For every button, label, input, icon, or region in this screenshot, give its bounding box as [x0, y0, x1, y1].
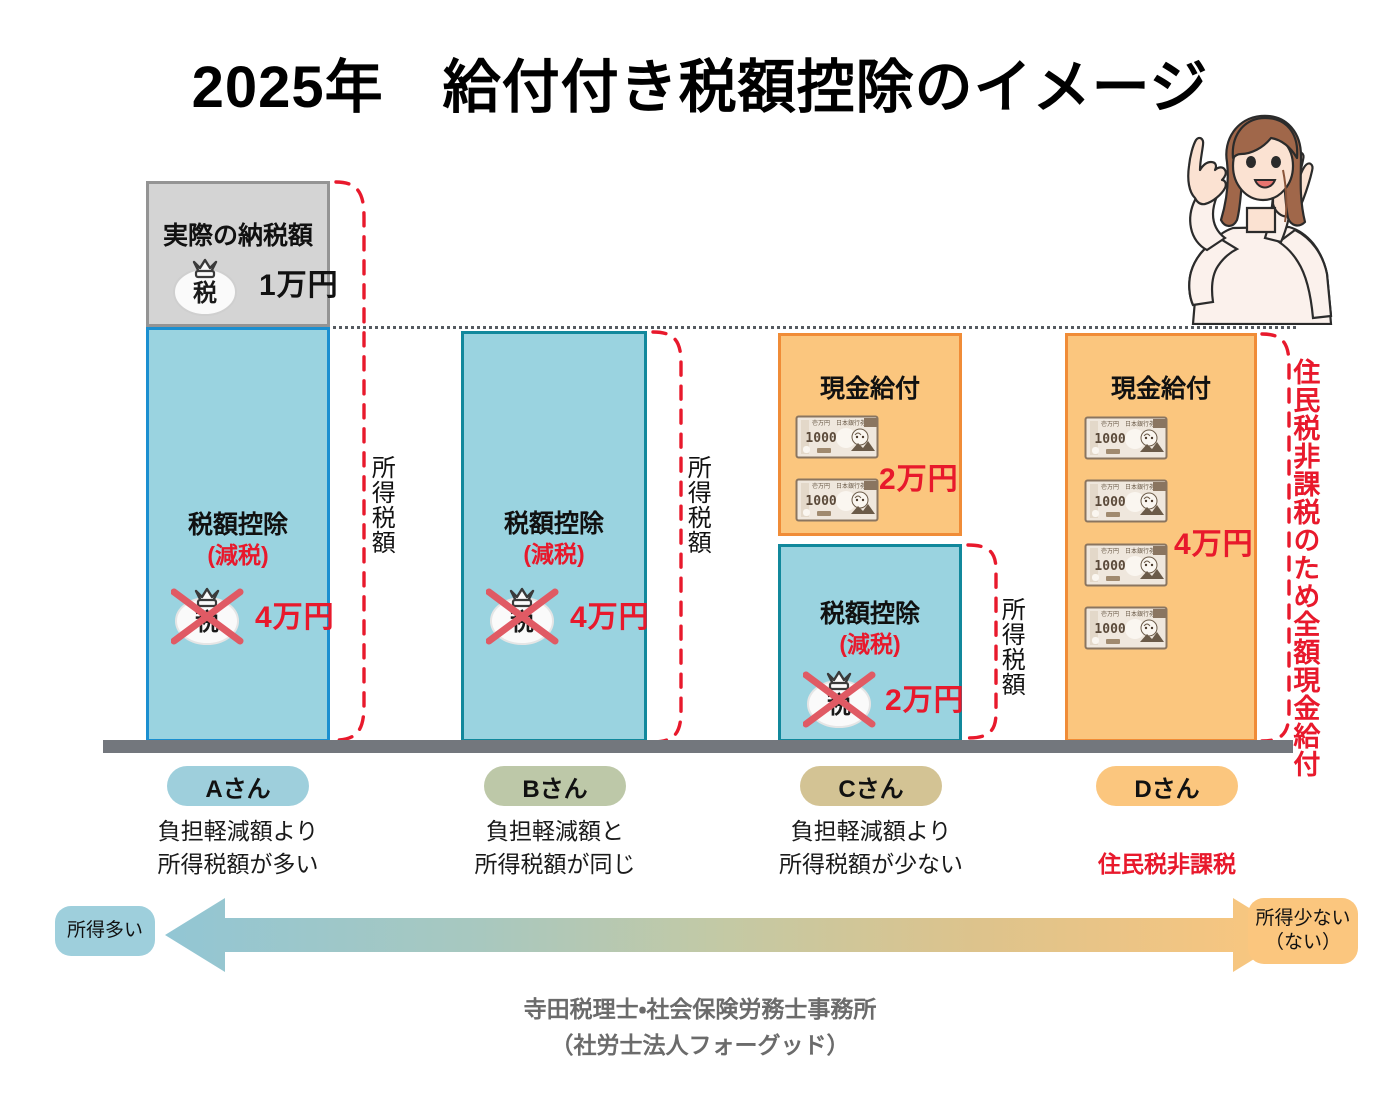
person-pill-c[interactable]: Cさん	[800, 766, 942, 806]
banknote-icon: 壱万円 日本銀行券 10000	[795, 478, 879, 522]
person-caption-d-highlight: 住民税非課税	[1098, 851, 1236, 877]
svg-text:税: 税	[193, 279, 217, 307]
person-caption-b: 負担軽減額と 所得税額が同じ	[425, 815, 685, 882]
bar-a-actual-tax-amount: 1万円	[259, 260, 339, 304]
money-bag-icon: 税	[169, 254, 243, 316]
banknote-icon: 壱万円 日本銀行券 10000	[795, 415, 879, 459]
bar-c-cash-benefit-title: 現金給付	[781, 369, 959, 405]
bar-c-tax-credit-amount: 2万円	[885, 675, 965, 719]
bar-d-cash-benefit-segment: 現金給付 壱万円 日本銀行券 10000 壱万円 日本銀行券	[1065, 333, 1257, 742]
bar-c-cash-benefit-segment: 現金給付 壱万円 日本銀行券 10000 壱万円 日本銀行券	[778, 333, 962, 536]
bar-c-cash-benefit-amount: 2万円	[879, 454, 959, 498]
income-axis-right-line2: （ない）	[1265, 931, 1341, 955]
bracket-b-income-tax-label: 所得税額	[684, 455, 709, 555]
svg-text:壱万円 日本銀行券: 壱万円 日本銀行券	[1101, 483, 1155, 491]
bar-a-tax-credit-subtitle: (減税)	[149, 536, 327, 570]
svg-text:壱万円 日本銀行券: 壱万円 日本銀行券	[812, 482, 866, 490]
income-axis-right-line1: 所得少ない	[1255, 907, 1350, 931]
bar-a-tax-credit-amount: 4万円	[255, 592, 335, 636]
income-axis-right-label: 所得少ない （ない）	[1248, 898, 1358, 964]
svg-text:壱万円 日本銀行券: 壱万円 日本銀行券	[1101, 610, 1155, 618]
person-caption-a: 負担軽減額より 所得税額が多い	[108, 815, 368, 882]
bar-c-tax-credit-segment: 税額控除 (減税) 税 2万円	[778, 544, 962, 742]
bracket-c-income-tax-label: 所得税額	[998, 597, 1023, 697]
money-bag-crossed-icon: 税	[803, 666, 877, 728]
bar-b-tax-credit-segment: 税額控除 (減税) 税 4万円	[461, 331, 647, 742]
bar-c-tax-credit-subtitle: (減税)	[781, 625, 959, 659]
money-bag-crossed-icon: 税	[171, 583, 245, 645]
banknote-icon: 壱万円 日本銀行券 10000	[1084, 543, 1168, 587]
banknote-icon: 壱万円 日本銀行券 10000	[1084, 479, 1168, 523]
footer-credit: 寺田税理士・社会保険労務士事務所 （社労士法人フォーグッド）	[0, 992, 1400, 1063]
bar-d-cash-benefit-title: 現金給付	[1068, 369, 1254, 405]
woman-pointing-illustration	[1155, 100, 1370, 325]
person-pill-d[interactable]: Dさん	[1096, 766, 1238, 806]
bar-d-cash-benefit-amount: 4万円	[1174, 519, 1254, 563]
money-bag-crossed-icon: 税	[486, 583, 560, 645]
bracket-a-income-tax-label: 所得税額	[368, 455, 393, 555]
person-pill-b[interactable]: Bさん	[484, 766, 626, 806]
banknote-icon: 壱万円 日本銀行券 10000	[1084, 416, 1168, 460]
bar-a-tax-credit-segment: 税額控除 (減税) 税 4万円	[146, 327, 330, 742]
diagram-canvas: 2025年 給付付き税額控除のイメージ	[0, 0, 1400, 1100]
bar-a-actual-tax-segment: 実際の納税額 税 1万円	[146, 181, 330, 327]
svg-text:壱万円 日本銀行券: 壱万円 日本銀行券	[812, 419, 866, 427]
person-pill-a[interactable]: Aさん	[167, 766, 309, 806]
bracket-d-cash-benefit-label: 住民税非課税のため全額現金給付	[1290, 358, 1318, 778]
svg-text:壱万円 日本銀行券: 壱万円 日本銀行券	[1101, 420, 1155, 428]
income-axis-left-label: 所得多い	[55, 906, 155, 956]
bar-b-tax-credit-subtitle: (減税)	[464, 535, 644, 569]
person-caption-c: 負担軽減額より 所得税額が少ない	[741, 815, 1001, 882]
svg-text:壱万円 日本銀行券: 壱万円 日本銀行券	[1101, 547, 1155, 555]
bar-b-tax-credit-amount: 4万円	[570, 592, 650, 636]
banknote-icon: 壱万円 日本銀行券 10000	[1084, 606, 1168, 650]
income-level-axis-arrow	[55, 896, 1355, 974]
bar-a-actual-tax-title: 実際の納税額	[149, 216, 327, 252]
income-axis-left-line1: 所得多い	[67, 919, 143, 943]
chart-baseline	[103, 740, 1293, 753]
